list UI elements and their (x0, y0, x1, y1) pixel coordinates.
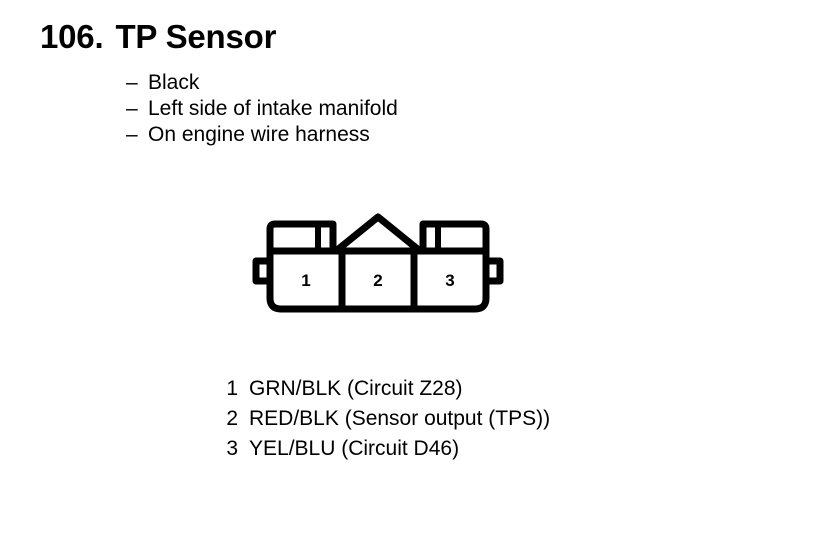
cavity-number-2: 2 (373, 271, 382, 290)
list-item-label: Black (148, 71, 199, 94)
cavity-number-1: 1 (301, 271, 310, 290)
section-title: TP Sensor (115, 18, 276, 55)
legend-row: 1GRN/BLK (Circuit Z28) (200, 374, 550, 404)
legend-row: 3YEL/BLU (Circuit D46) (200, 434, 550, 464)
cavity-number-3: 3 (445, 271, 454, 290)
legend-pin-description: RED/BLK (Sensor output (TPS)) (249, 407, 550, 430)
dash-bullet-icon: – (126, 70, 148, 96)
legend-pin-number: 3 (200, 434, 238, 464)
list-item-label: On engine wire harness (148, 123, 370, 146)
section-number: 106. (40, 18, 103, 55)
right-latch-tab (423, 224, 486, 251)
description-list: –Black –Left side of intake manifold –On… (126, 70, 398, 148)
dash-bullet-icon: – (126, 96, 148, 122)
list-item-label: Left side of intake manifold (148, 97, 398, 120)
left-latch-tab (270, 224, 333, 251)
page-title: 106.TP Sensor (40, 18, 276, 56)
list-item: –Black (126, 70, 398, 96)
list-item: –On engine wire harness (126, 122, 398, 148)
legend-pin-number: 1 (200, 374, 238, 404)
dash-bullet-icon: – (126, 122, 148, 148)
legend-pin-description: YEL/BLU (Circuit D46) (249, 437, 459, 460)
pin-legend: 1GRN/BLK (Circuit Z28) 2RED/BLK (Sensor … (200, 374, 550, 464)
legend-row: 2RED/BLK (Sensor output (TPS)) (200, 404, 550, 434)
service-manual-page: 106.TP Sensor –Black –Left side of intak… (0, 0, 832, 560)
list-item: –Left side of intake manifold (126, 96, 398, 122)
connector-diagram: 1 2 3 (248, 205, 508, 325)
legend-pin-number: 2 (200, 404, 238, 434)
legend-pin-description: GRN/BLK (Circuit Z28) (249, 377, 463, 400)
center-polarizing-key (336, 217, 420, 251)
